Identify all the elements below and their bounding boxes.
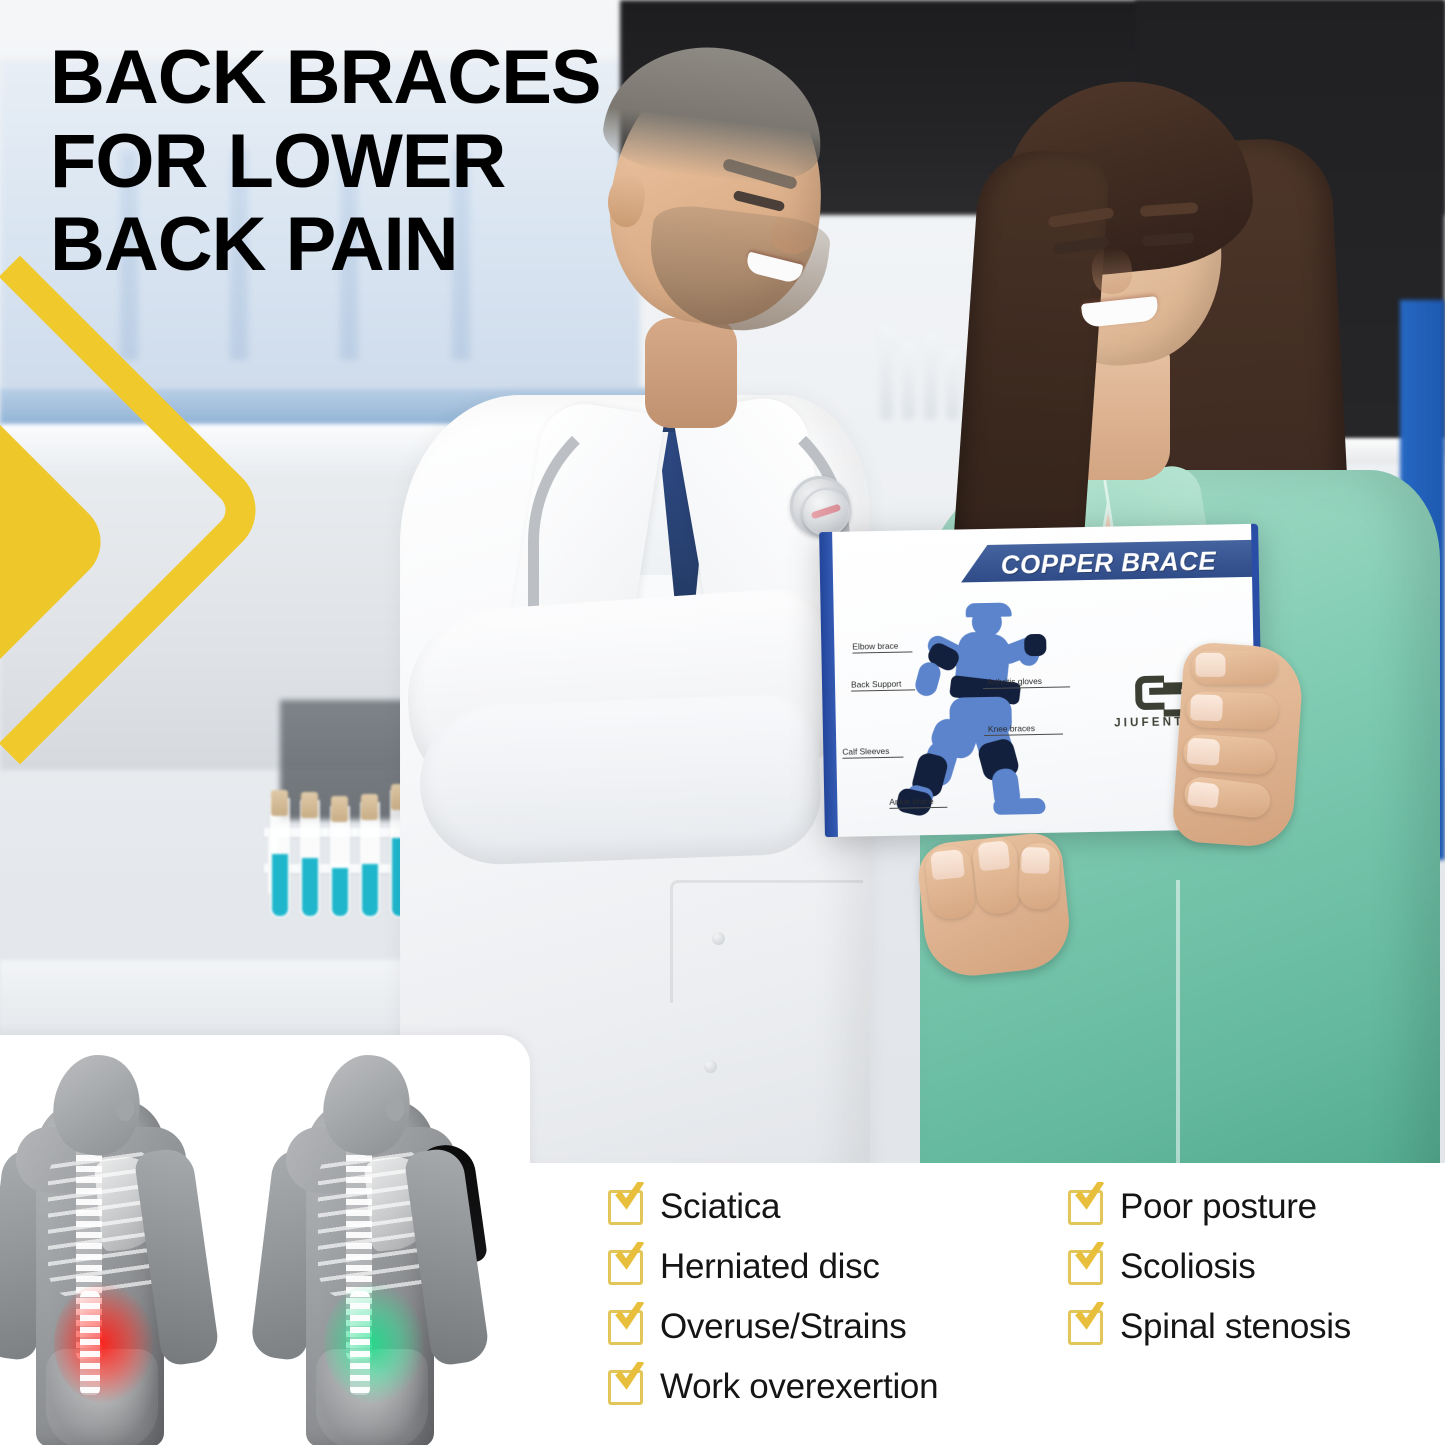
label-calf-sleeves: Calf Sleeves bbox=[842, 746, 889, 758]
doctor-badge bbox=[802, 488, 850, 536]
checklist-column-left: Sciatica Herniated disc Overuse/Strains … bbox=[608, 1177, 938, 1417]
box-title-text: COPPER BRACE bbox=[1000, 546, 1216, 581]
conditions-checklist-panel: Sciatica Herniated disc Overuse/Strains … bbox=[530, 1163, 1445, 1445]
checklist-label: Spinal stenosis bbox=[1120, 1307, 1351, 1347]
checklist-label: Scoliosis bbox=[1120, 1247, 1255, 1287]
headline-line-2: FOR LOWER bbox=[50, 120, 750, 204]
relief-highlight-green bbox=[324, 1283, 424, 1403]
checkmark-icon bbox=[608, 1310, 643, 1345]
box-title-banner: COPPER BRACE bbox=[960, 540, 1261, 583]
checklist-item[interactable]: Spinal stenosis bbox=[1068, 1297, 1351, 1357]
spine-comparison-inset bbox=[0, 1035, 530, 1445]
checkmark-icon bbox=[608, 1370, 643, 1405]
checklist-item[interactable]: Herniated disc bbox=[608, 1237, 938, 1297]
pain-highlight-red bbox=[54, 1283, 154, 1403]
coat-pocket bbox=[670, 880, 863, 1003]
running-athlete-icon bbox=[893, 599, 1082, 813]
checkmark-icon bbox=[608, 1250, 643, 1285]
coat-button bbox=[712, 932, 725, 945]
checklist-label: Herniated disc bbox=[660, 1247, 880, 1287]
arthritis-glove bbox=[1024, 634, 1046, 656]
checkmark-icon bbox=[1068, 1250, 1103, 1285]
checklist-item[interactable]: Overuse/Strains bbox=[608, 1297, 938, 1357]
page-title: BACK BRACES FOR LOWER BACK PAIN bbox=[50, 36, 750, 287]
checklist-label: Sciatica bbox=[660, 1187, 780, 1227]
coat-button bbox=[704, 1060, 717, 1073]
checklist-label: Work overexertion bbox=[660, 1367, 938, 1407]
spine-after-figure bbox=[268, 1053, 483, 1445]
checklist-item[interactable]: Poor posture bbox=[1068, 1177, 1351, 1237]
checklist-label: Overuse/Strains bbox=[660, 1307, 906, 1347]
label-elbow-brace: Elbow brace bbox=[852, 641, 898, 653]
headline-line-3: BACK PAIN bbox=[50, 203, 750, 287]
nurse-left-hand bbox=[915, 831, 1073, 980]
checkmark-icon bbox=[1068, 1310, 1103, 1345]
checklist-item[interactable]: Scoliosis bbox=[1068, 1237, 1351, 1297]
checkmark-icon bbox=[608, 1190, 643, 1225]
scrub-placket bbox=[1176, 880, 1180, 1210]
nurse-right-hand bbox=[1171, 641, 1305, 849]
headline-line-1: BACK BRACES bbox=[50, 36, 750, 120]
doctor-crossed-arm bbox=[417, 693, 822, 867]
checklist-label: Poor posture bbox=[1120, 1187, 1317, 1227]
checklist-column-right: Poor posture Scoliosis Spinal stenosis bbox=[1068, 1177, 1351, 1357]
label-arthritis-gloves: Arthritis gloves bbox=[987, 676, 1042, 688]
checkmark-icon bbox=[1068, 1190, 1103, 1225]
product-listing-image: COPPER BRACE bbox=[0, 0, 1445, 1445]
checklist-item[interactable]: Sciatica bbox=[608, 1177, 938, 1237]
label-back-support: Back Support bbox=[851, 679, 901, 691]
spine-before-figure bbox=[0, 1053, 213, 1445]
checklist-item[interactable]: Work overexertion bbox=[608, 1357, 938, 1417]
label-ankle-brace: Ankle brace bbox=[889, 796, 933, 808]
label-knee-braces: Knee braces bbox=[988, 723, 1035, 735]
